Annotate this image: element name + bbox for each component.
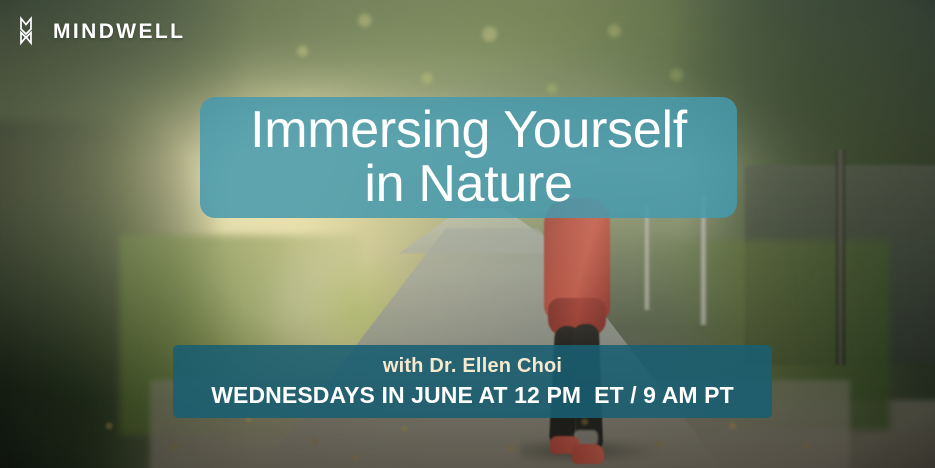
promo-banner: MINDWELL Immersing Yourself in Nature wi… — [0, 0, 935, 468]
mindwell-monogram-icon — [16, 15, 46, 47]
brand-logo[interactable]: MINDWELL — [16, 15, 185, 47]
info-banner: with Dr. Ellen Choi WEDNESDAYS IN JUNE A… — [173, 345, 772, 418]
brand-wordmark: MINDWELL — [53, 21, 185, 42]
title-line-1: Immersing Yourself — [250, 104, 687, 158]
speaker-name: with Dr. Ellen Choi — [383, 354, 562, 378]
title-card: Immersing Yourself in Nature — [200, 97, 737, 218]
title-line-2: in Nature — [250, 158, 687, 212]
page-title: Immersing Yourself in Nature — [232, 104, 705, 211]
schedule-text: WEDNESDAYS IN JUNE AT 12 PM ET / 9 AM PT — [211, 381, 734, 410]
